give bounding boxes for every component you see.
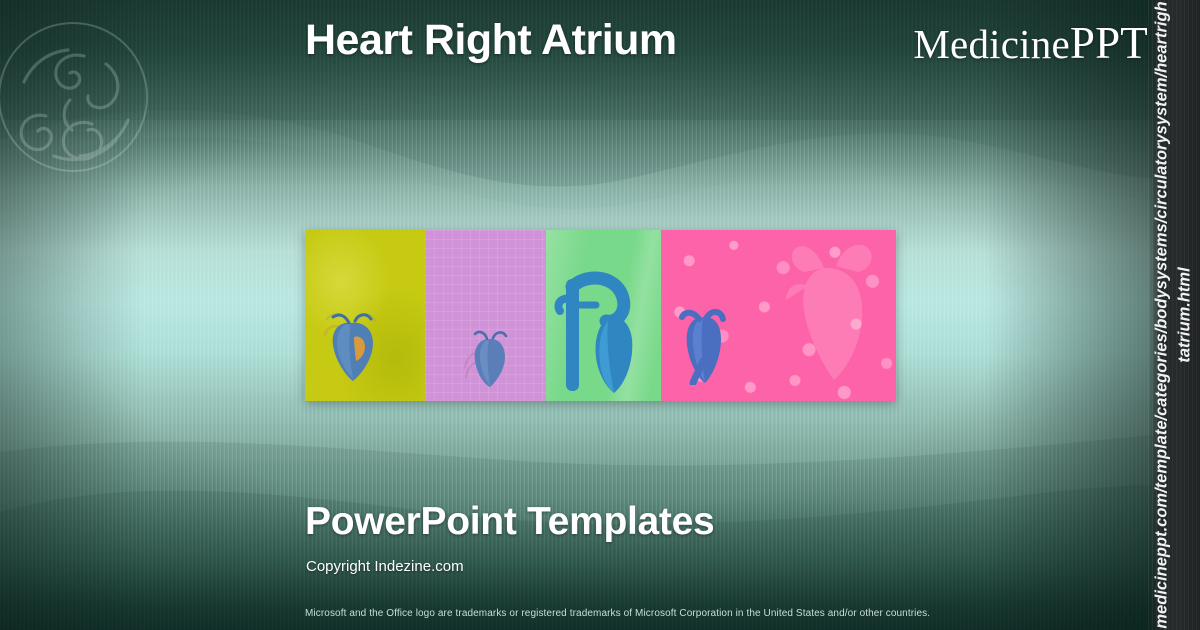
disclaimer-text: Microsoft and the Office logo are tradem…	[305, 608, 930, 619]
heart-thumbnail-green[interactable]	[546, 230, 661, 401]
brand-logo-part1: Medicine	[913, 21, 1069, 67]
heart-thumbnail-lavender[interactable]	[425, 230, 546, 401]
url-rail: medicineppt.com/template/categories/body…	[1148, 0, 1200, 630]
heart-illustration-icon	[673, 301, 731, 385]
heart-watermark-icon	[778, 240, 882, 390]
brand-logo-part2: PPT	[1070, 18, 1148, 68]
page-title: Heart Right Atrium	[305, 16, 677, 65]
heart-illustration-icon	[463, 327, 513, 389]
copyright-text: Copyright Indezine.com	[306, 558, 464, 575]
slide-canvas: Heart Right Atrium MedicinePPT	[0, 0, 1200, 630]
subtitle: PowerPoint Templates	[305, 500, 714, 544]
url-text[interactable]: medicineppt.com/template/categories/body…	[1151, 1, 1198, 629]
heart-thumbnail-pink[interactable]	[661, 230, 896, 401]
heart-thumbnail-yellow[interactable]	[305, 230, 425, 401]
brand-logo: MedicinePPT	[913, 17, 1148, 69]
thumbnail-strip	[305, 230, 896, 401]
heart-illustration-icon	[321, 307, 381, 383]
heart-illustration-icon	[552, 265, 644, 397]
